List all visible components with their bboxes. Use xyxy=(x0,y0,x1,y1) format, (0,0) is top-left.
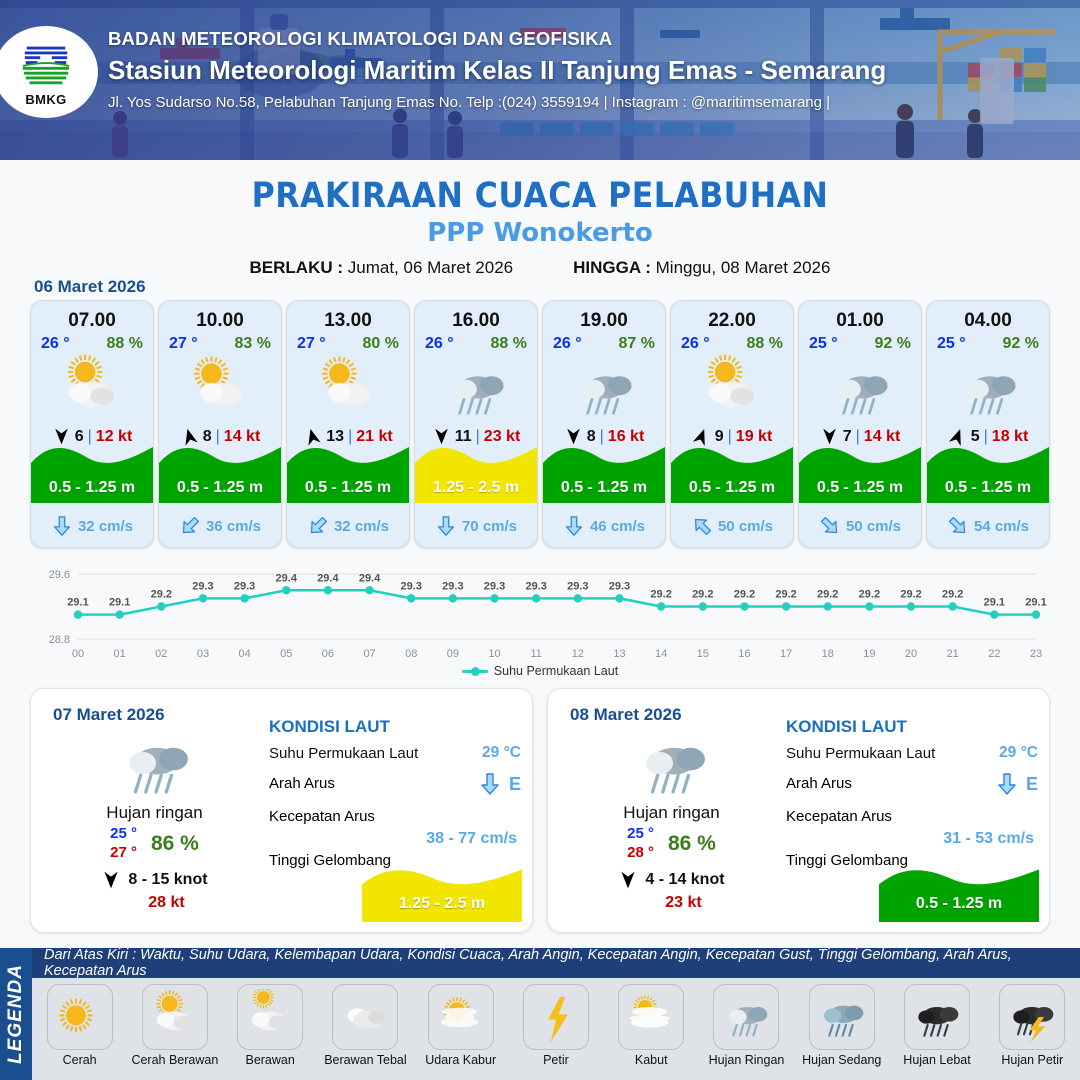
sst-chart-svg: 29.628.829.10029.10129.20229.30329.30429… xyxy=(30,560,1050,665)
card-time: 10.00 xyxy=(159,310,281,332)
card-time: 16.00 xyxy=(415,310,537,332)
svg-text:29.2: 29.2 xyxy=(734,589,755,601)
panel-wind-range: 4 - 14 knot xyxy=(645,871,724,889)
valid-to-value: Minggu, 08 Maret 2026 xyxy=(656,258,831,277)
svg-text:15: 15 xyxy=(697,648,709,660)
panel-sst-row: Suhu Permukaan Laut 29 °C xyxy=(786,744,1038,762)
card-current: 46 cm/s xyxy=(543,515,665,537)
card-air-temperature: 26 ° xyxy=(681,335,710,353)
weather-icon-hujan-ringan xyxy=(635,720,709,806)
panel-wind-range: 8 - 15 knot xyxy=(128,871,207,889)
panel-wave-graphic: 0.5 - 1.25 m xyxy=(879,860,1039,922)
panel-current-speed-value: 38 - 77 cm/s xyxy=(426,830,517,848)
panel-weather-summary: Hujan ringan 25 ° 27 ° 86 % 8 - 15 knot … xyxy=(47,727,262,912)
legend-items: Cerah Cerah Berawan Berawan Berawan Teba… xyxy=(32,978,1080,1080)
panel-temp-min: 25 ° xyxy=(627,825,654,844)
weather-icon-hujan-sedang xyxy=(818,989,866,1045)
svg-text:29.2: 29.2 xyxy=(859,589,880,601)
svg-text:05: 05 xyxy=(280,648,292,660)
svg-text:20: 20 xyxy=(905,648,917,660)
legend-item: Petir xyxy=(510,984,602,1067)
forecast-card[interactable]: 19.00 26 ° 87 % 8 | 16 kt 0.5 - 1.25 m 4… xyxy=(542,300,666,548)
panel-temp-column: 25 ° 27 ° xyxy=(110,825,137,863)
svg-text:01: 01 xyxy=(114,648,126,660)
station-name: Stasiun Meteorologi Maritim Kelas II Tan… xyxy=(108,55,886,86)
svg-text:29.1: 29.1 xyxy=(1025,597,1046,609)
panel-weather-summary: Hujan ringan 25 ° 28 ° 86 % 4 - 14 knot … xyxy=(564,727,779,912)
svg-text:28.8: 28.8 xyxy=(49,634,70,646)
panel-sea-section-title: KONDISI LAUT xyxy=(786,717,1038,737)
valid-to: HINGGA : Minggu, 08 Maret 2026 xyxy=(573,258,830,278)
panel-temp-min: 25 ° xyxy=(110,825,137,844)
panel-condition: Hujan ringan xyxy=(564,803,779,823)
current-direction-icon xyxy=(995,772,1019,796)
panel-temps: 25 ° 27 ° 86 % xyxy=(47,825,262,863)
weather-icon-berawan xyxy=(246,989,294,1045)
svg-text:29.3: 29.3 xyxy=(442,580,463,592)
current-direction-icon xyxy=(174,510,205,541)
legend-item: Berawan xyxy=(224,984,316,1067)
legend-item-label: Hujan Sedang xyxy=(796,1053,888,1067)
svg-text:29.3: 29.3 xyxy=(401,580,422,592)
card-temp-humidity: 26 ° 88 % xyxy=(31,332,153,353)
validity-row: BERLAKU : Jumat, 06 Maret 2026 HINGGA : … xyxy=(0,258,1080,278)
card-current-speed: 54 cm/s xyxy=(974,518,1029,535)
panel-condition: Hujan ringan xyxy=(47,803,262,823)
daily-forecast-panel[interactable]: 08 Maret 2026 Hujan ringan 25 ° 28 ° 86 … xyxy=(547,688,1050,933)
legend-icon-box xyxy=(999,984,1065,1050)
legend-icon-box xyxy=(142,984,208,1050)
panel-current-speed-label: Kecepatan Arus xyxy=(269,808,375,825)
card-current: 36 cm/s xyxy=(159,515,281,537)
agency-name: BADAN METEOROLOGI KLIMATOLOGI DAN GEOFIS… xyxy=(108,28,886,50)
weather-icon-hujan-lebat xyxy=(913,989,961,1045)
current-direction-icon xyxy=(51,515,73,537)
svg-text:09: 09 xyxy=(447,648,459,660)
svg-text:29.6: 29.6 xyxy=(49,569,70,581)
panel-humidity: 86 % xyxy=(151,832,199,856)
weather-icon-cerah-berawan2 xyxy=(189,353,251,425)
daily-panels-row: 07 Maret 2026 Hujan ringan 25 ° 27 ° 86 … xyxy=(30,688,1050,933)
legend-item-label: Berawan xyxy=(224,1053,316,1067)
svg-text:21: 21 xyxy=(947,648,959,660)
current-direction-icon xyxy=(942,510,973,541)
panel-current-speed-value: 31 - 53 cm/s xyxy=(943,830,1034,848)
card-humidity: 80 % xyxy=(363,335,399,353)
legend-item: Cerah Berawan xyxy=(129,984,221,1067)
forecast-card[interactable]: 04.00 25 ° 92 % 5 | 18 kt 0.5 - 1.25 m 5… xyxy=(926,300,1050,548)
legend-item: Hujan Petir xyxy=(986,984,1078,1067)
legend-item: Udara Kabur xyxy=(415,984,507,1067)
card-weather-icon xyxy=(31,355,153,423)
panel-current-dir-row: Arah Arus E xyxy=(269,774,521,796)
panel-sst-label: Suhu Permukaan Laut xyxy=(786,745,935,762)
svg-text:06: 06 xyxy=(322,648,334,660)
legend-icon-box xyxy=(904,984,970,1050)
legend-item-label: Kabut xyxy=(605,1053,697,1067)
svg-text:16: 16 xyxy=(738,648,750,660)
card-weather-icon xyxy=(543,355,665,423)
legend-side-title-text: LEGENDA xyxy=(5,964,27,1064)
card-time: 22.00 xyxy=(671,310,793,332)
legend-item: Hujan Lebat xyxy=(891,984,983,1067)
svg-text:29.1: 29.1 xyxy=(67,597,88,609)
svg-text:19: 19 xyxy=(863,648,875,660)
svg-text:29.2: 29.2 xyxy=(775,589,796,601)
card-wave-height: 1.25 - 2.5 m xyxy=(415,479,537,497)
panel-sea-conditions: KONDISI LAUT Suhu Permukaan Laut 29 °C A… xyxy=(786,717,1038,869)
current-direction-icon xyxy=(814,510,845,541)
legend-item: Hujan Ringan xyxy=(700,984,792,1067)
card-time: 19.00 xyxy=(543,310,665,332)
legend-side-title: LEGENDA xyxy=(0,948,32,1080)
card-time: 13.00 xyxy=(287,310,409,332)
card-weather-icon xyxy=(799,355,921,423)
forecast-card[interactable]: 13.00 27 ° 80 % 13 | 21 kt 0.5 - 1.25 m … xyxy=(286,300,410,548)
legend-icon-box xyxy=(428,984,494,1050)
panel-wave-value: 1.25 - 2.5 m xyxy=(362,895,522,913)
svg-text:29.4: 29.4 xyxy=(359,572,381,584)
sst-chart: 29.628.829.10029.10129.20229.30329.30429… xyxy=(30,560,1050,685)
card-air-temperature: 26 ° xyxy=(553,335,582,353)
weather-icon-cerah-berawan xyxy=(61,353,123,425)
panel-sea-conditions: KONDISI LAUT Suhu Permukaan Laut 29 °C A… xyxy=(269,717,521,869)
legend-item: Cerah xyxy=(34,984,126,1067)
forecast-card[interactable]: 16.00 26 ° 88 % 11 | 23 kt 1.25 - 2.5 m … xyxy=(414,300,538,548)
legend-item-label: Berawan Tebal xyxy=(319,1053,411,1067)
panel-current-dir-row: Arah Arus E xyxy=(786,774,1038,796)
card-current-speed: 32 cm/s xyxy=(78,518,133,535)
card-current-speed: 50 cm/s xyxy=(718,518,773,535)
panel-sst-value: 29 °C xyxy=(999,744,1038,762)
card-wave-height: 0.5 - 1.25 m xyxy=(671,479,793,497)
panel-sst-label: Suhu Permukaan Laut xyxy=(269,745,418,762)
panel-weather-icon xyxy=(47,727,262,799)
weather-icon-cerah-berawan2 xyxy=(317,353,379,425)
valid-to-label: HINGGA : xyxy=(573,258,651,277)
card-air-temperature: 26 ° xyxy=(41,335,70,353)
panel-sst-row: Suhu Permukaan Laut 29 °C xyxy=(269,744,521,762)
card-weather-icon xyxy=(159,355,281,423)
valid-from-value: Jumat, 06 Maret 2026 xyxy=(348,258,513,277)
weather-icon-udara-kabur xyxy=(437,989,485,1045)
legend-item: Hujan Sedang xyxy=(796,984,888,1067)
card-temp-humidity: 26 ° 88 % xyxy=(671,332,793,353)
weather-icon-hujan-petir xyxy=(1008,989,1056,1045)
panel-wave-value: 0.5 - 1.25 m xyxy=(879,895,1039,913)
panel-temp-column: 25 ° 28 ° xyxy=(627,825,654,863)
current-direction-icon xyxy=(478,772,502,796)
card-current-speed: 70 cm/s xyxy=(462,518,517,535)
forecast-card[interactable]: 01.00 25 ° 92 % 7 | 14 kt 0.5 - 1.25 m 5… xyxy=(798,300,922,548)
svg-text:29.3: 29.3 xyxy=(609,580,630,592)
card-wave-height: 0.5 - 1.25 m xyxy=(799,479,921,497)
svg-text:29.3: 29.3 xyxy=(484,580,505,592)
svg-text:12: 12 xyxy=(572,648,584,660)
card-humidity: 88 % xyxy=(747,335,783,353)
weather-icon-hujan-ringan xyxy=(118,720,192,806)
legend-icon-box xyxy=(237,984,303,1050)
card-weather-icon xyxy=(415,355,537,423)
valid-from: BERLAKU : Jumat, 06 Maret 2026 xyxy=(250,258,514,278)
svg-text:29.1: 29.1 xyxy=(984,597,1005,609)
svg-text:00: 00 xyxy=(72,648,84,660)
header-text-block: BADAN METEOROLOGI KLIMATOLOGI DAN GEOFIS… xyxy=(108,28,886,111)
legend-icon-box xyxy=(332,984,398,1050)
panel-current-dir-label: Arah Arus xyxy=(269,775,335,792)
panel-weather-icon xyxy=(564,727,779,799)
legend-bar: LEGENDA Dari Atas Kiri : Waktu, Suhu Uda… xyxy=(0,948,1080,1080)
svg-text:02: 02 xyxy=(155,648,167,660)
legend-item-label: Petir xyxy=(510,1053,602,1067)
svg-text:08: 08 xyxy=(405,648,417,660)
panel-current-dir-value: E xyxy=(1026,774,1038,795)
svg-text:29.2: 29.2 xyxy=(692,589,713,601)
card-temp-humidity: 27 ° 80 % xyxy=(287,332,409,353)
weather-icon-petir xyxy=(532,989,580,1045)
svg-text:23: 23 xyxy=(1030,648,1042,660)
card-current: 70 cm/s xyxy=(415,515,537,537)
card-current-speed: 36 cm/s xyxy=(206,518,261,535)
legend-icon-box xyxy=(618,984,684,1050)
card-current: 32 cm/s xyxy=(287,515,409,537)
chart-legend: Suhu Permukaan Laut xyxy=(30,664,1050,678)
panel-wind: 8 - 15 knot xyxy=(47,870,262,890)
card-temp-humidity: 27 ° 83 % xyxy=(159,332,281,353)
card-humidity: 92 % xyxy=(875,335,911,353)
svg-text:04: 04 xyxy=(238,648,250,660)
forecast-card[interactable]: 22.00 26 ° 88 % 9 | 19 kt 0.5 - 1.25 m 5… xyxy=(670,300,794,548)
card-wave-height: 0.5 - 1.25 m xyxy=(31,479,153,497)
panel-sea-section-title: KONDISI LAUT xyxy=(269,717,521,737)
card-weather-icon xyxy=(671,355,793,423)
daily-forecast-panel[interactable]: 07 Maret 2026 Hujan ringan 25 ° 27 ° 86 … xyxy=(30,688,533,933)
weather-icon-cerah xyxy=(56,989,104,1045)
panel-sst-value: 29 °C xyxy=(482,744,521,762)
svg-text:29.4: 29.4 xyxy=(276,572,298,584)
card-current: 32 cm/s xyxy=(31,515,153,537)
svg-text:29.2: 29.2 xyxy=(650,589,671,601)
panel-current-speed-row: Kecepatan Arus 31 - 53 cm/s xyxy=(786,808,1038,848)
panel-gust: 28 kt xyxy=(71,894,262,912)
weather-icon-cerah-berawan xyxy=(701,353,763,425)
card-weather-icon xyxy=(287,355,409,423)
svg-text:29.3: 29.3 xyxy=(234,580,255,592)
card-air-temperature: 25 ° xyxy=(937,335,966,353)
forecast-day-label: 06 Maret 2026 xyxy=(34,277,146,297)
panel-temp-max: 27 ° xyxy=(110,844,137,863)
panel-current-speed-row: Kecepatan Arus 38 - 77 cm/s xyxy=(269,808,521,848)
valid-from-label: BERLAKU : xyxy=(250,258,344,277)
card-wave-height: 0.5 - 1.25 m xyxy=(159,479,281,497)
panel-current-dir-value: E xyxy=(509,774,521,795)
legend-icon-box xyxy=(713,984,779,1050)
card-time: 04.00 xyxy=(927,310,1049,332)
weather-icon-hujan-ringan xyxy=(573,353,635,425)
card-time: 01.00 xyxy=(799,310,921,332)
weather-icon-berawan-tebal xyxy=(341,989,389,1045)
panel-current-speed-label: Kecepatan Arus xyxy=(786,808,892,825)
card-humidity: 88 % xyxy=(491,335,527,353)
svg-text:10: 10 xyxy=(488,648,500,660)
card-current: 50 cm/s xyxy=(671,515,793,537)
card-current: 50 cm/s xyxy=(799,515,921,537)
legend-item-label: Hujan Petir xyxy=(986,1053,1078,1067)
current-direction-icon xyxy=(302,510,333,541)
svg-text:29.1: 29.1 xyxy=(109,597,130,609)
svg-text:29.3: 29.3 xyxy=(567,580,588,592)
weather-icon-kabut xyxy=(627,989,675,1045)
card-humidity: 88 % xyxy=(107,335,143,353)
card-wave-height: 0.5 - 1.25 m xyxy=(287,479,409,497)
legend-note: Dari Atas Kiri : Waktu, Suhu Udara, Kele… xyxy=(32,948,1080,978)
card-current: 54 cm/s xyxy=(927,515,1049,537)
panel-wave-graphic: 1.25 - 2.5 m xyxy=(362,860,522,922)
card-wave-height: 0.5 - 1.25 m xyxy=(543,479,665,497)
svg-text:29.3: 29.3 xyxy=(192,580,213,592)
svg-text:22: 22 xyxy=(988,648,1000,660)
svg-text:07: 07 xyxy=(363,648,375,660)
weather-icon-hujan-ringan xyxy=(957,353,1019,425)
legend-item-label: Hujan Ringan xyxy=(700,1053,792,1067)
panel-wind: 4 - 14 knot xyxy=(564,870,779,890)
panel-temp-max: 28 ° xyxy=(627,844,654,863)
card-air-temperature: 26 ° xyxy=(425,335,454,353)
svg-text:03: 03 xyxy=(197,648,209,660)
card-weather-icon xyxy=(927,355,1049,423)
svg-text:17: 17 xyxy=(780,648,792,660)
svg-text:29.4: 29.4 xyxy=(317,572,339,584)
chart-legend-label: Suhu Permukaan Laut xyxy=(494,664,618,678)
svg-text:29.3: 29.3 xyxy=(525,580,546,592)
card-air-temperature: 27 ° xyxy=(169,335,198,353)
bmkg-logo-text: BMKG xyxy=(25,92,66,107)
card-humidity: 87 % xyxy=(619,335,655,353)
card-temp-humidity: 25 ° 92 % xyxy=(927,332,1049,353)
legend-icon-box xyxy=(47,984,113,1050)
svg-text:14: 14 xyxy=(655,648,667,660)
panel-current-dir-label: Arah Arus xyxy=(786,775,852,792)
current-direction-icon xyxy=(686,510,717,541)
panel-gust: 23 kt xyxy=(588,894,779,912)
card-temp-humidity: 26 ° 87 % xyxy=(543,332,665,353)
weather-icon-hujan-ringan xyxy=(722,989,770,1045)
bmkg-logo-mark xyxy=(17,37,75,91)
page-header: BMKG BADAN METEOROLOGI KLIMATOLOGI DAN G… xyxy=(0,0,1080,160)
svg-text:13: 13 xyxy=(613,648,625,660)
panel-current-dir-value-group: E xyxy=(995,772,1038,796)
station-address: Jl. Yos Sudarso No.58, Pelabuhan Tanjung… xyxy=(108,94,886,111)
svg-text:29.2: 29.2 xyxy=(151,589,172,601)
card-current-speed: 50 cm/s xyxy=(846,518,901,535)
forecast-card[interactable]: 10.00 27 ° 83 % 8 | 14 kt 0.5 - 1.25 m 3… xyxy=(158,300,282,548)
legend-item-label: Hujan Lebat xyxy=(891,1053,983,1067)
weather-icon-hujan-ringan xyxy=(829,353,891,425)
svg-text:29.2: 29.2 xyxy=(817,589,838,601)
legend-icon-box xyxy=(809,984,875,1050)
wind-direction-icon xyxy=(618,870,638,890)
legend-icon-box xyxy=(523,984,589,1050)
current-direction-icon xyxy=(435,515,457,537)
card-wave-height: 0.5 - 1.25 m xyxy=(927,479,1049,497)
card-temp-humidity: 25 ° 92 % xyxy=(799,332,921,353)
svg-text:18: 18 xyxy=(822,648,834,660)
card-humidity: 83 % xyxy=(235,335,271,353)
card-air-temperature: 27 ° xyxy=(297,335,326,353)
card-current-speed: 32 cm/s xyxy=(334,518,389,535)
page-title: PRAKIRAAN CUACA PELABUHAN xyxy=(0,176,1080,216)
panel-temps: 25 ° 28 ° 86 % xyxy=(564,825,779,863)
legend-item-label: Cerah xyxy=(34,1053,126,1067)
svg-text:29.2: 29.2 xyxy=(942,589,963,601)
hourly-forecast-row: 07.00 26 ° 88 % 6 | 12 kt 0.5 - 1.25 m 3… xyxy=(30,300,1050,548)
card-humidity: 92 % xyxy=(1003,335,1039,353)
card-current-speed: 46 cm/s xyxy=(590,518,645,535)
legend-item-label: Cerah Berawan xyxy=(129,1053,221,1067)
svg-text:11: 11 xyxy=(530,648,541,660)
legend-item: Berawan Tebal xyxy=(319,984,411,1067)
weather-icon-hujan-ringan xyxy=(445,353,507,425)
panel-humidity: 86 % xyxy=(668,832,716,856)
svg-text:29.2: 29.2 xyxy=(900,589,921,601)
weather-icon-cerah-berawan xyxy=(151,989,199,1045)
card-air-temperature: 25 ° xyxy=(809,335,838,353)
panel-current-dir-value-group: E xyxy=(478,772,521,796)
legend-item-label: Udara Kabur xyxy=(415,1053,507,1067)
current-direction-icon xyxy=(563,515,585,537)
legend-item: Kabut xyxy=(605,984,697,1067)
chart-legend-marker xyxy=(462,670,488,673)
page-subtitle: PPP Wonokerto xyxy=(0,218,1080,248)
title-block: PRAKIRAAN CUACA PELABUHAN PPP Wonokerto … xyxy=(0,160,1080,278)
card-temp-humidity: 26 ° 88 % xyxy=(415,332,537,353)
wind-direction-icon xyxy=(101,870,121,890)
card-time: 07.00 xyxy=(31,310,153,332)
forecast-card[interactable]: 07.00 26 ° 88 % 6 | 12 kt 0.5 - 1.25 m 3… xyxy=(30,300,154,548)
